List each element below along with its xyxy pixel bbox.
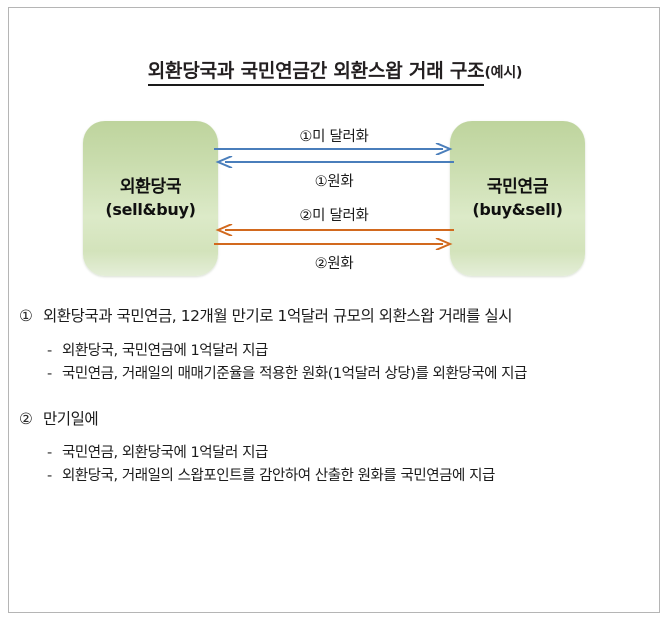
note-sub-list: - 외환당국, 국민연금에 1억달러 지급 - 국민연금, 거래일의 매매기준율…	[47, 340, 651, 385]
flow-arrows-area: ①미 달러화 ①원화 ②미 달러화 ②원화	[214, 113, 454, 293]
note-sub-item: - 국민연금, 거래일의 매매기준율을 적용한 원화(1억달러 상당)를 외환당…	[47, 363, 651, 385]
flow-arrow-1-usd-right	[214, 143, 454, 155]
note-marker: ①	[19, 305, 43, 329]
entity-box-fx-authority: 외환당국 (sell&buy)	[83, 121, 218, 276]
note-sub-dash: -	[47, 442, 62, 464]
note-sub-text: 외환당국, 국민연금에 1억달러 지급	[62, 340, 651, 362]
flow-label-2-usd: ②미 달러화	[214, 204, 454, 225]
note-sub-text: 국민연금, 외환당국에 1억달러 지급	[62, 442, 651, 464]
note-item: ② 만기일에	[19, 408, 651, 432]
note-sub-text: 국민연금, 거래일의 매매기준율을 적용한 원화(1억달러 상당)를 외환당국에…	[62, 363, 651, 385]
note-sub-item: - 외환당국, 국민연금에 1억달러 지급	[47, 340, 651, 362]
flow-label-1-krw: ①원화	[214, 170, 454, 191]
note-sub-text: 외환당국, 거래일의 스왑포인트를 감안하여 산출한 원화를 국민연금에 지급	[62, 465, 651, 487]
note-text: 만기일에	[43, 408, 651, 432]
page-title-main: 외환당국과 국민연금간 외환스왑 거래 구조	[148, 60, 485, 86]
note-sub-dash: -	[47, 340, 62, 362]
page-title-suffix: (예시)	[484, 65, 522, 81]
note-sub-dash: -	[47, 465, 62, 487]
entity-right-name: 국민연금	[487, 176, 548, 199]
entity-left-name: 외환당국	[120, 176, 181, 199]
note-item: ① 외환당국과 국민연금, 12개월 만기로 1억달러 규모의 외환스왑 거래를…	[19, 305, 651, 329]
notes-list: ① 외환당국과 국민연금, 12개월 만기로 1억달러 규모의 외환스왑 거래를…	[19, 305, 651, 488]
flow-arrow-2-krw-right	[214, 238, 454, 250]
flow-arrow-1-krw-left	[214, 156, 454, 168]
notes-spacer	[19, 386, 651, 408]
note-sub-list: - 국민연금, 외환당국에 1억달러 지급 - 외환당국, 거래일의 스왑포인트…	[47, 442, 651, 487]
note-sub-item: - 국민연금, 외환당국에 1억달러 지급	[47, 442, 651, 464]
flow-label-2-krw: ②원화	[214, 252, 454, 273]
entity-right-side: (buy&sell)	[472, 199, 562, 221]
note-text: 외환당국과 국민연금, 12개월 만기로 1억달러 규모의 외환스왑 거래를 실…	[43, 305, 651, 329]
swap-structure-diagram: 외환당국 (sell&buy) 국민연금 (buy&sell) ①미 달러화 ①…	[9, 113, 661, 293]
flow-arrow-2-usd-left	[214, 224, 454, 236]
entity-left-side: (sell&buy)	[105, 199, 195, 221]
note-marker: ②	[19, 408, 43, 432]
page-title: 외환당국과 국민연금간 외환스왑 거래 구조(예시)	[9, 56, 661, 83]
note-sub-dash: -	[47, 363, 62, 385]
page-frame: 외환당국과 국민연금간 외환스왑 거래 구조(예시) 외환당국 (sell&bu…	[8, 7, 660, 613]
entity-box-national-pension: 국민연금 (buy&sell)	[450, 121, 585, 276]
note-sub-item: - 외환당국, 거래일의 스왑포인트를 감안하여 산출한 원화를 국민연금에 지…	[47, 465, 651, 487]
